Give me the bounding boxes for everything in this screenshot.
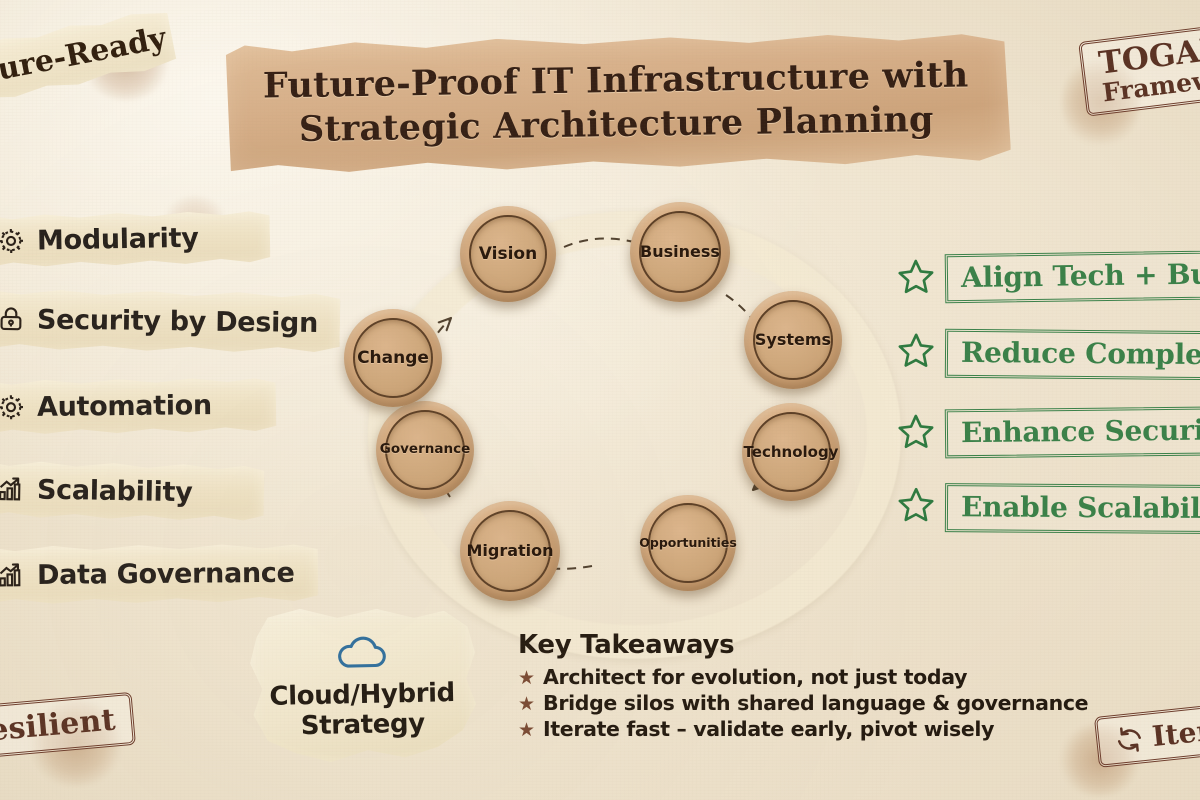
corner-stamp-togaf-framework: TOGAF Framework — [1078, 18, 1200, 116]
corner-tape-label: Future-Ready — [0, 20, 169, 98]
architecture-cycle-diagram: Vision Business Systems Technology Oppor… — [330, 185, 870, 615]
key-takeaways-section: Key Takeaways ★ Architect for evolution,… — [518, 630, 1038, 743]
cloud-note-line-2: Strategy — [301, 709, 426, 741]
benefit-label: Enable Scalability — [961, 490, 1200, 525]
takeaway-item: ★ Bridge silos with shared language & go… — [518, 691, 1038, 715]
principle-item-automation[interactable]: Automation — [0, 376, 276, 435]
principle-item-data-governance[interactable]: Data Governance — [0, 543, 318, 606]
cycle-node-technology[interactable]: Technology — [742, 403, 840, 501]
principle-label: Modularity — [37, 222, 199, 256]
benefit-stamp-enable-scalability[interactable]: Enable Scalability — [896, 483, 1200, 535]
cloud-hybrid-strategy-note[interactable]: Cloud/Hybrid Strategy — [244, 604, 479, 771]
benefit-stamp-box: Align Tech + Business — [945, 249, 1200, 303]
corner-stamp-iterative: Iterative — [1094, 695, 1200, 768]
principle-label: Scalability — [37, 474, 193, 508]
star-icon — [896, 256, 937, 302]
gear-icon — [0, 392, 26, 422]
takeaway-item: ★ Iterate fast – validate early, pivot w… — [518, 717, 1038, 741]
corner-stamp-label: Resilient — [0, 702, 117, 750]
benefit-stamp-reduce-complexity[interactable]: Reduce Complexity — [896, 328, 1200, 380]
cycle-node-label: Change — [357, 350, 429, 367]
takeaway-item: ★ Architect for evolution, not just toda… — [518, 665, 1038, 689]
page-title-line-2: Strategic Architecture Planning — [299, 98, 934, 152]
star-bullet-icon: ★ — [518, 695, 535, 714]
page-title-banner: Future-Proof IT Infrastructure with Stra… — [221, 31, 1011, 175]
lock-icon — [0, 304, 26, 334]
cloud-note-line-1: Cloud/Hybrid — [269, 679, 455, 712]
cycle-node-label: Migration — [466, 543, 553, 559]
takeaway-text: Architect for evolution, not just today — [543, 665, 967, 689]
cycle-node-label: Governance — [380, 443, 470, 457]
cycle-node-label: Business — [640, 244, 720, 260]
cycle-node-governance[interactable]: Governance — [376, 401, 474, 499]
key-takeaways-title: Key Takeaways — [518, 630, 1038, 660]
benefit-stamp-enhance-security[interactable]: Enhance Security — [896, 406, 1200, 459]
cycle-node-systems[interactable]: Systems — [744, 291, 842, 389]
benefit-stamp-box: Enhance Security — [945, 406, 1200, 458]
corner-stamp-label: Iterative — [1151, 706, 1200, 753]
star-icon — [896, 330, 936, 375]
gear-icon — [0, 226, 26, 257]
benefit-stamp-box: Reduce Complexity — [945, 329, 1200, 381]
principle-item-modularity[interactable]: Modularity — [0, 209, 270, 268]
principle-label: Security by Design — [37, 304, 318, 338]
refresh-cycle-icon — [1113, 723, 1146, 756]
cycle-node-business[interactable]: Business — [630, 202, 730, 302]
principle-label: Automation — [37, 390, 212, 423]
cycle-node-label: Systems — [755, 332, 831, 348]
bar-chart-growth-icon — [0, 474, 26, 505]
cycle-node-migration[interactable]: Migration — [460, 501, 560, 601]
principle-item-security-by-design[interactable]: Security by Design — [0, 288, 340, 354]
cycle-node-opportunities[interactable]: Opportunities — [640, 495, 736, 591]
takeaway-text: Bridge silos with shared language & gove… — [543, 691, 1088, 715]
star-bullet-icon: ★ — [518, 721, 535, 740]
cycle-node-label: Technology — [744, 445, 839, 460]
benefit-stamp-box: Enable Scalability — [945, 483, 1200, 534]
cycle-node-label: Vision — [479, 246, 537, 263]
corner-stamp-resilient: Resilient — [0, 692, 136, 761]
corner-tape-future-ready: Future-Ready — [0, 6, 178, 113]
principle-item-scalability[interactable]: Scalability — [0, 459, 264, 522]
star-icon — [896, 485, 936, 530]
benefit-label: Align Tech + Business — [961, 256, 1200, 294]
bar-chart-growth-icon — [0, 560, 26, 590]
cycle-node-label: Opportunities — [639, 537, 737, 550]
star-bullet-icon: ★ — [518, 669, 535, 688]
benefit-label: Enhance Security — [961, 413, 1200, 449]
benefit-label: Reduce Complexity — [961, 336, 1200, 372]
infographic-board: Future-Proof IT Infrastructure with Stra… — [0, 0, 1200, 800]
star-icon — [896, 411, 936, 456]
takeaway-text: Iterate fast – validate early, pivot wis… — [543, 717, 994, 741]
cycle-node-change[interactable]: Change — [344, 309, 442, 407]
principle-label: Data Governance — [37, 557, 295, 590]
cycle-node-vision[interactable]: Vision — [460, 206, 556, 302]
benefit-stamp-align-tech-business[interactable]: Align Tech + Business — [896, 249, 1200, 304]
cloud-icon — [332, 634, 391, 680]
